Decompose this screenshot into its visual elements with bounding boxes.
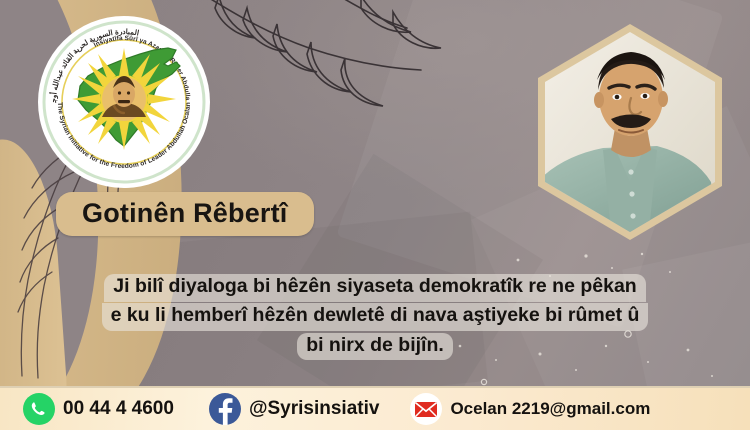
quote-block: Ji bilî diyaloga bi hêzên siyaseta demok… — [0, 274, 750, 361]
poster-canvas: المبادرة السورية لحرية القائد عبدالله أو… — [0, 0, 750, 430]
portrait-frame — [538, 24, 722, 240]
contact-email[interactable]: Ocelan 2219@gmail.com — [409, 392, 650, 426]
contact-email-value: Ocelan 2219@gmail.com — [450, 399, 650, 419]
title-banner: Gotinên Rêbertî — [56, 192, 314, 236]
quote-row: bi nirx de bijîn. — [0, 332, 750, 361]
portrait-photo — [545, 32, 715, 232]
contact-facebook-value: @Syrisinsiativ — [249, 398, 379, 420]
olive-branch-line-art — [185, 0, 445, 136]
quote-line: e ku li hemberî hêzên dewletê di nava aş… — [102, 303, 649, 331]
quote-row: e ku li hemberî hêzên dewletê di nava aş… — [0, 303, 750, 331]
contact-facebook[interactable]: @Syrisinsiativ — [208, 392, 379, 426]
syrian-initiative-logo: المبادرة السورية لحرية القائد عبدالله أو… — [36, 14, 212, 190]
contact-bar: 00 44 4 4600 @Syrisinsiativ Ocelan 2219@… — [0, 386, 750, 430]
whatsapp-icon[interactable] — [22, 392, 56, 426]
quote-row: Ji bilî diyaloga bi hêzên siyaseta demok… — [0, 274, 750, 302]
quote-line: Ji bilî diyaloga bi hêzên siyaseta demok… — [104, 274, 645, 302]
quote-line: bi nirx de bijîn. — [297, 333, 453, 361]
contact-phone-value: 00 44 4 4600 — [63, 398, 174, 420]
facebook-icon[interactable] — [208, 392, 242, 426]
contact-phone[interactable]: 00 44 4 4600 — [22, 392, 174, 426]
envelope-icon[interactable] — [409, 392, 443, 426]
page-title: Gotinên Rêbertî — [82, 199, 288, 227]
